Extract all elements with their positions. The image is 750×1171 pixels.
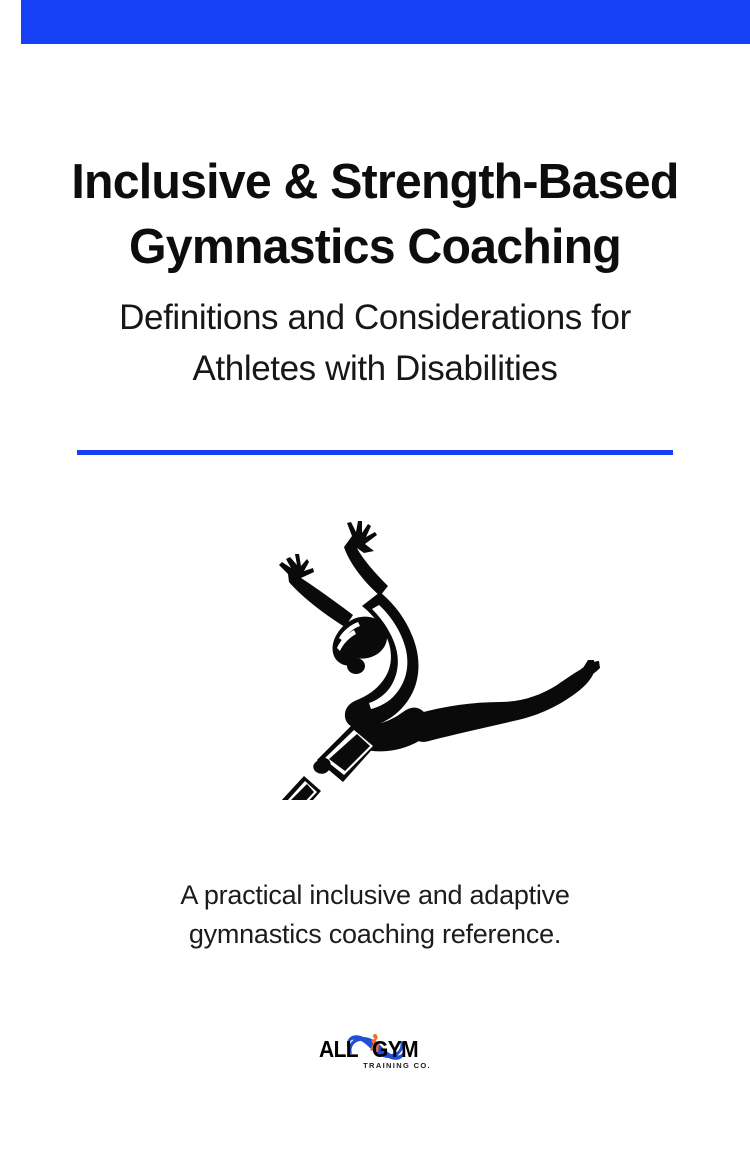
cover-caption: A practical inclusive and adaptive gymna… (0, 876, 750, 955)
brand-logo-tagline: TRAINING CO. (319, 1062, 431, 1070)
page-subtitle-line-1: Definitions and Considerations for (119, 298, 631, 337)
divider-rule (77, 450, 673, 455)
cover-caption-line-2: gymnastics coaching reference. (189, 919, 561, 949)
hero-illustration (148, 510, 600, 800)
gymnast-leap-silhouette-icon (194, 521, 600, 800)
page-subtitle-line-2: Athletes with Disabilities (192, 349, 557, 388)
cover-caption-line-1: A practical inclusive and adaptive (180, 880, 569, 910)
brand-logo-inner: ALL GYM TRAINING CO. (319, 1033, 431, 1073)
title-block: Inclusive & Strength-Based Gymnastics Co… (0, 150, 750, 395)
brand-logo: ALL GYM TRAINING CO. (0, 1031, 750, 1075)
page-title-line-1: Inclusive & Strength-Based (71, 155, 678, 209)
cover-page: Inclusive & Strength-Based Gymnastics Co… (0, 0, 750, 1171)
brand-logo-wordmark: ALL GYM (319, 1038, 431, 1060)
page-title-line-2: Gymnastics Coaching (129, 220, 621, 274)
brand-logo-word-left: ALL (319, 1038, 358, 1062)
brand-logo-word-right: GYM (372, 1038, 418, 1062)
page-title: Inclusive & Strength-Based Gymnastics Co… (23, 150, 726, 280)
page-subtitle: Definitions and Considerations for Athle… (18, 292, 732, 394)
top-accent-bar (21, 0, 750, 44)
